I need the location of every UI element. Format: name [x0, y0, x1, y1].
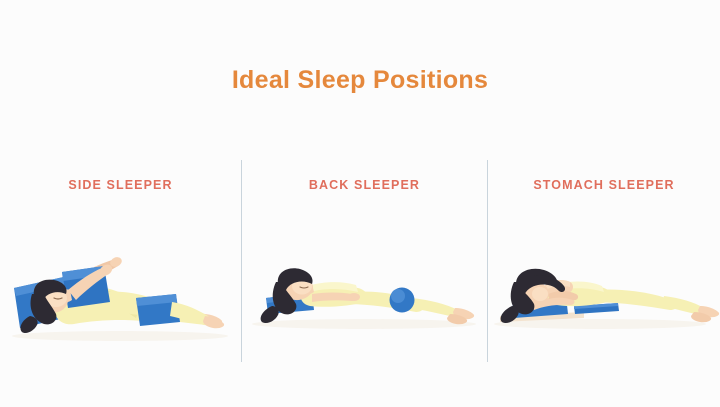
column-back-sleeper: BACK SLEEPER — [242, 160, 487, 365]
page-title: Ideal Sleep Positions — [0, 66, 720, 95]
illustration-stomach-sleeper — [488, 232, 720, 357]
column-heading-side-sleeper: SIDE SLEEPER — [0, 178, 241, 192]
column-stomach-sleeper: STOMACH SLEEPER — [488, 160, 720, 365]
columns-container: SIDE SLEEPER — [0, 160, 720, 365]
column-heading-back-sleeper: BACK SLEEPER — [242, 178, 487, 192]
infographic-canvas: Ideal Sleep Positions SIDE SLEEPER — [0, 0, 720, 407]
column-heading-stomach-sleeper: STOMACH SLEEPER — [488, 178, 720, 192]
illustration-back-sleeper — [242, 232, 487, 357]
illustration-side-sleeper — [0, 232, 241, 357]
column-side-sleeper: SIDE SLEEPER — [0, 160, 241, 365]
knee-bolster-shape — [390, 288, 415, 313]
